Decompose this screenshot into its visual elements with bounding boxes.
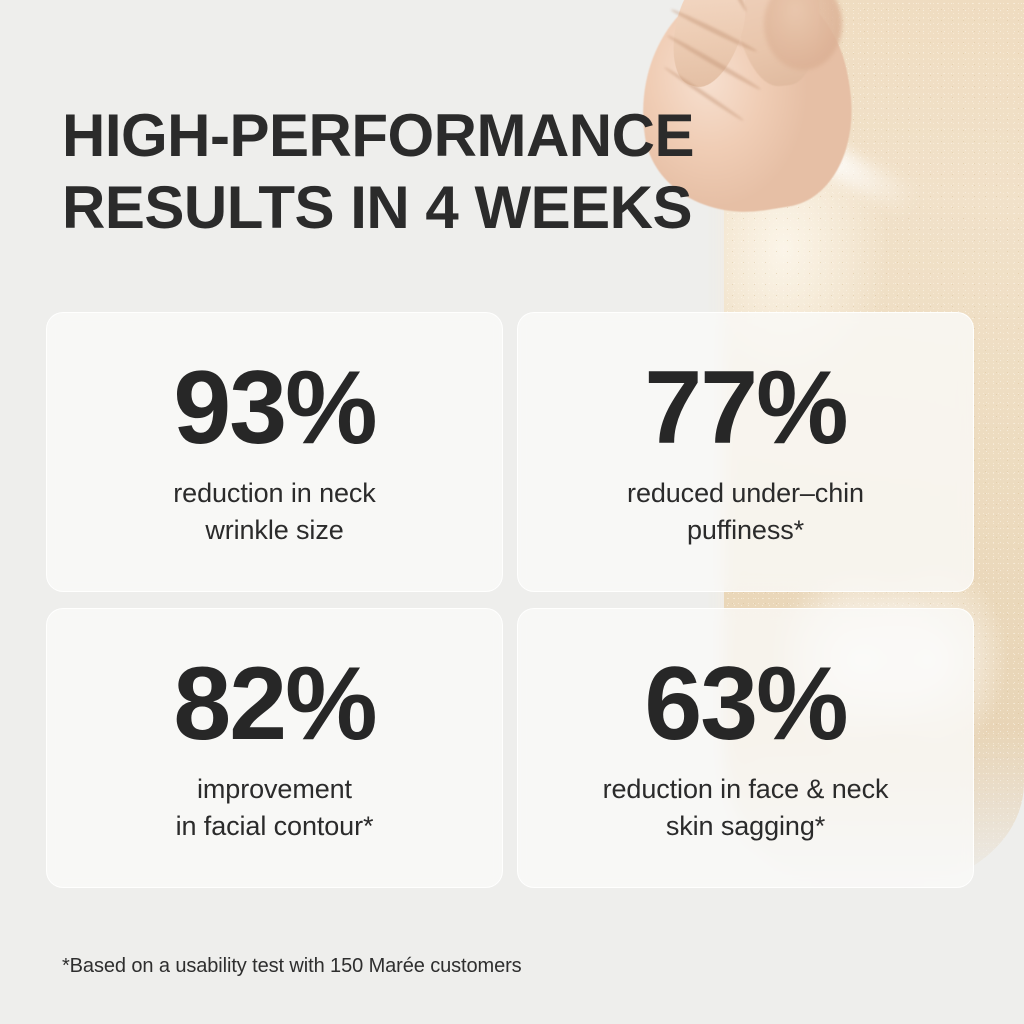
stats-grid: 93% reduction in neck wrinkle size 77% r… [46,312,974,888]
palm-crease [666,33,762,91]
infographic-canvas: HIGH-PERFORMANCE RESULTS IN 4 WEEKS 93% … [0,0,1024,1024]
stat-value: 63% [644,651,846,757]
stat-card-skin-sagging: 63% reduction in face & neck skin saggin… [517,608,974,888]
palm-crease [670,7,758,54]
stat-label: reduction in neck wrinkle size [155,475,393,549]
page-title: HIGH-PERFORMANCE RESULTS IN 4 WEEKS [62,100,782,244]
stat-value: 93% [173,355,375,461]
stat-card-neck-wrinkle: 93% reduction in neck wrinkle size [46,312,503,592]
knuckle [764,0,842,70]
palm-crease [724,0,748,12]
stat-card-facial-contour: 82% improvement in facial contour* [46,608,503,888]
stat-label: reduction in face & neck skin sagging* [585,771,907,845]
stat-value: 77% [644,355,846,461]
thumb [661,0,758,95]
stat-card-under-chin-puffiness: 77% reduced under–chin puffiness* [517,312,974,592]
stat-label: reduced under–chin puffiness* [609,475,882,549]
footnote: *Based on a usability test with 150 Maré… [62,955,522,978]
stat-value: 82% [173,651,375,757]
stat-label: improvement in facial contour* [158,771,392,845]
index-finger [726,0,827,90]
